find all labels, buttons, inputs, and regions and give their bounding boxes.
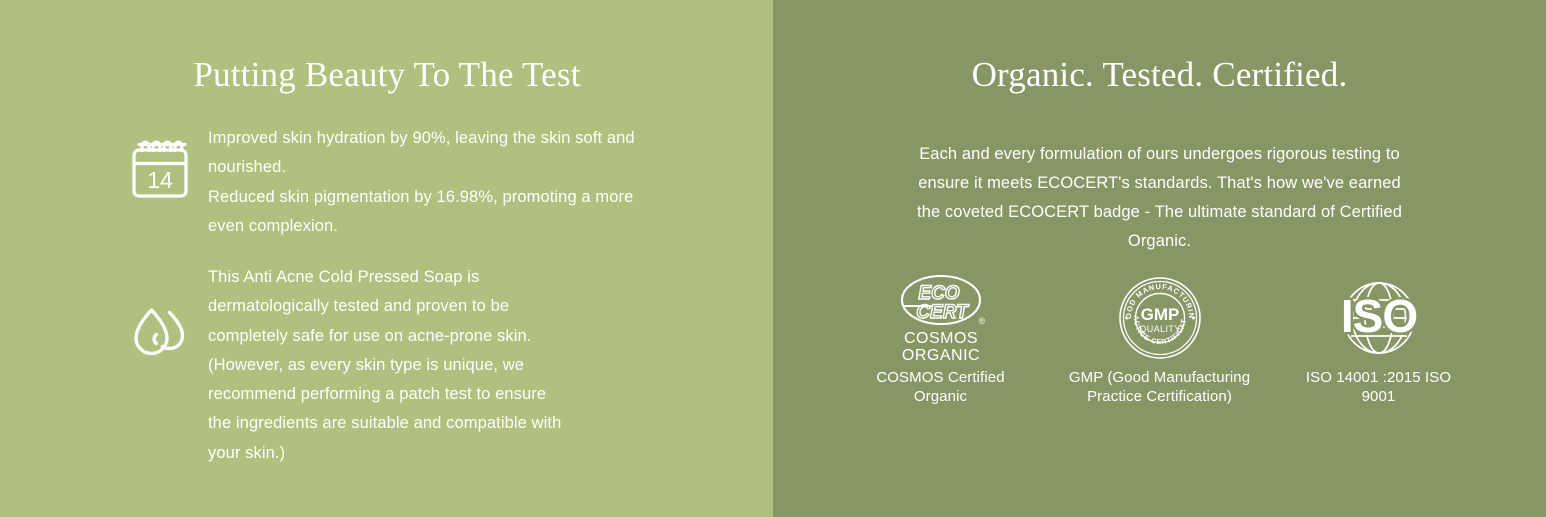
feature-row: 14 Improved skin hydration by 90%, leavi… (112, 124, 732, 241)
feature-row: This Anti Acne Cold Pressed Soap is derm… (112, 263, 732, 468)
calendar-day-number: 14 (147, 167, 173, 193)
badge-gmp: GOOD MANUFACTURING PRACTICE CERTIFICATIO… (1069, 272, 1251, 406)
badge-cosmos-organic: ECO CERT ® COSMOS ORGANIC COSMOS Certifi… (850, 272, 1032, 406)
ecocert-cosmos-organic-logo: ECO CERT ® COSMOS ORGANIC (885, 272, 997, 364)
ecocert-logo-line2: CERT (916, 302, 969, 323)
cosmos-label: COSMOS (903, 330, 977, 347)
feature-text: This Anti Acne Cold Pressed Soap is derm… (208, 263, 561, 468)
badge-caption: GMP (Good Manufacturing Practice Certifi… (1069, 368, 1251, 406)
iso-globe-logo: ISO (1325, 272, 1433, 364)
gmp-center-text: GMP (1140, 305, 1179, 324)
calendar-icon: 14 (112, 124, 208, 204)
badge-caption: COSMOS Certified Organic (850, 368, 1032, 406)
left-panel-title-wrap: Putting Beauty To The Test (0, 57, 773, 92)
right-panel: Organic. Tested. Certified. Each and eve… (773, 0, 1546, 517)
certification-banner: Putting Beauty To The Test 14 (0, 0, 1546, 517)
certification-badges: ECO CERT ® COSMOS ORGANIC COSMOS Certifi… (850, 272, 1470, 406)
right-panel-paragraph: Each and every formulation of ours under… (910, 140, 1410, 257)
feature-text: Improved skin hydration by 90%, leaving … (208, 124, 635, 241)
organic-label: ORGANIC (901, 347, 979, 364)
left-panel: Putting Beauty To The Test 14 (0, 0, 773, 517)
gmp-quality-seal: GOOD MANUFACTURING PRACTICE CERTIFICATIO… (1117, 272, 1203, 364)
ecocert-logo-line1: ECO (918, 283, 959, 304)
badge-caption: ISO 14001 :2015 ISO 9001 (1288, 368, 1470, 406)
left-panel-title: Putting Beauty To The Test (77, 57, 697, 92)
registered-trademark-icon: ® (978, 316, 985, 326)
iso-logo-text: ISO (1340, 290, 1416, 342)
right-panel-title: Organic. Tested. Certified. (773, 57, 1546, 92)
water-drop-icon (112, 263, 208, 368)
badge-iso: ISO ISO 14001 :2015 ISO 9001 (1288, 272, 1470, 406)
gmp-center-subtext: QUALITY (1139, 324, 1180, 334)
